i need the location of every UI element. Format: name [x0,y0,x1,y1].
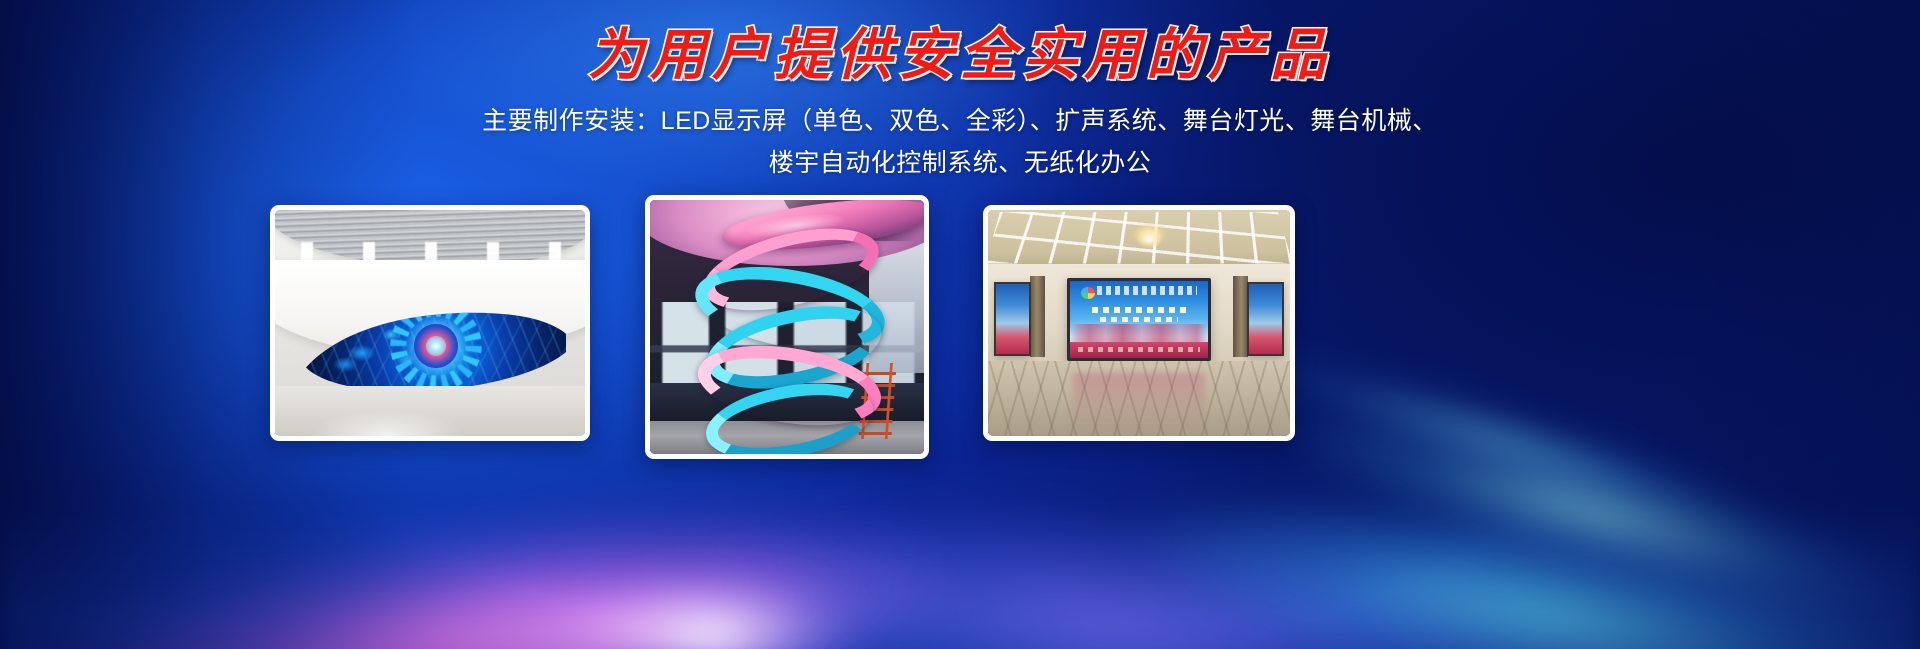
photo3-right-led-panel [1247,282,1284,356]
photo-gallery [0,0,1920,649]
gallery-card-led-eye-ceiling[interactable] [270,205,590,441]
photo3-screen-bottom-text-line [1078,347,1200,352]
photo-led-eye-ceiling [275,210,585,436]
photo2-spiral-led-display [694,225,875,449]
photo-led-spiral-lobby [650,200,924,454]
photo3-main-led-screen [1067,278,1212,361]
photo3-screen-subtitle-line-1 [1092,307,1186,313]
photo1-ceiling-lights-row1 [275,242,585,262]
photo1-floor-reflection [300,391,517,436]
gallery-card-led-conference-hall[interactable] [983,205,1295,441]
photo-led-conference-hall [988,210,1290,436]
photo3-screen-subtitle-line-2 [1100,317,1178,322]
photo3-screen-skyline-graphic [1070,324,1209,344]
gallery-card-led-spiral-lobby[interactable] [645,195,929,459]
photo3-left-pillar [1030,276,1045,357]
photo3-left-led-panel [994,282,1031,356]
promo-banner: 为用户提供安全实用的产品 主要制作安装：LED显示屏（单色、双色、全彩）、扩声系… [0,0,1920,649]
photo3-right-pillar [1233,276,1248,357]
photo3-screen-logo [1081,287,1095,299]
photo3-screen-title-line [1097,286,1197,295]
photo3-chandelier [1127,221,1172,255]
photo3-floor-reflection [1073,373,1206,436]
